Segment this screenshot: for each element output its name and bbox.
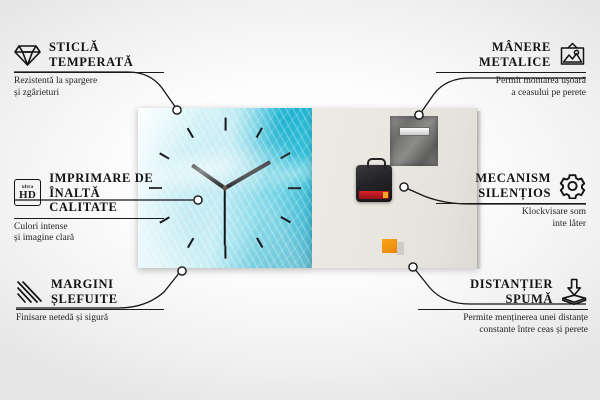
callout-header: MÂNERE METALICE: [436, 40, 586, 69]
ultra-hd-icon: ultra HD: [14, 179, 41, 206]
callout-description: Klockvisare som inte låter: [436, 207, 586, 230]
callout-description: Permit montarea ușoară a ceasului pe per…: [436, 76, 586, 99]
callout-tempered-glass: STICLĂ TEMPERATĂ Rezistentă la spargere …: [14, 40, 164, 99]
infographic-stage: STICLĂ TEMPERATĂ Rezistentă la spargere …: [0, 0, 600, 400]
battery-terminal: [383, 192, 388, 198]
diamond-icon: [14, 42, 41, 67]
callout-title: MÂNERE METALICE: [479, 40, 551, 69]
callout-title: STICLĂ TEMPERATĂ: [49, 40, 133, 69]
mechanism-battery: [359, 191, 389, 199]
product-assembly: [138, 108, 478, 268]
clock-tick: [280, 216, 290, 223]
callout-header: MECANISM SILENȚIOS: [436, 171, 586, 200]
callout-header: STICLĂ TEMPERATĂ: [14, 40, 164, 69]
metal-hanger-bracket: [399, 127, 430, 136]
callout-description: Permite menținerea unei distanțe constan…: [418, 313, 588, 336]
clock-dial: [138, 108, 312, 268]
clock-tick: [288, 187, 301, 189]
clock-tick: [187, 238, 194, 248]
framed-picture-icon: [559, 42, 586, 67]
foam-spacer: [382, 239, 397, 253]
callout-rule: [14, 218, 164, 219]
callout-description: Finisare netedă și sigură: [16, 313, 164, 325]
callout-title: MARGINI ȘLEFUITE: [51, 277, 118, 306]
callout-header: MARGINI ȘLEFUITE: [16, 277, 164, 306]
callout-foam-spacer: DISTANȚIER SPUMĂ Permite menținerea unei…: [418, 277, 588, 336]
clock-center-cap: [223, 186, 228, 191]
ultra-hd-icon-large-text: HD: [19, 190, 36, 201]
connector-dot-polished-edges: [178, 267, 186, 275]
callout-header: DISTANȚIER SPUMĂ: [418, 277, 588, 306]
callout-description: Rezistentă la spargere și zgârieturi: [14, 76, 164, 99]
callout-title: MECANISM SILENȚIOS: [475, 171, 551, 200]
gear-icon: [559, 173, 586, 199]
clock-tick: [187, 127, 194, 137]
metal-hanger-plate: [390, 116, 438, 166]
callout-description: Culori intense și imagine clară: [14, 222, 164, 245]
mechanism-hook: [367, 158, 386, 169]
clock-minute-hand: [224, 160, 271, 189]
spacer-arrow-icon: [561, 278, 588, 305]
callout-rule: [14, 72, 164, 73]
callout-rule: [16, 309, 164, 310]
clock-tick: [280, 152, 290, 159]
clock-tick: [224, 246, 226, 259]
callout-header: ultra HD IMPRIMARE DE ÎNALTĂ CALITATE: [14, 171, 164, 215]
callout-silent-mechanism: MECANISM SILENȚIOS Klockvisare som inte …: [436, 171, 586, 230]
callout-metal-handles: MÂNERE METALICE Permit montarea ușoară a…: [436, 40, 586, 99]
callout-rule: [436, 203, 586, 204]
callout-polished-edges: MARGINI ȘLEFUITE Finisare netedă și sigu…: [16, 277, 164, 325]
clock-tick: [256, 238, 263, 248]
clock-tick: [224, 118, 226, 131]
clock-mechanism: [356, 165, 392, 202]
diagonal-lines-icon: [16, 280, 43, 304]
foam-spacer-shadow: [397, 242, 404, 255]
clock-hour-hand: [191, 163, 226, 189]
callout-title: DISTANȚIER SPUMĂ: [470, 277, 553, 306]
callout-rule: [436, 72, 586, 73]
clock-tick: [256, 127, 263, 137]
callout-print-quality: ultra HD IMPRIMARE DE ÎNALTĂ CALITATE Cu…: [14, 171, 164, 245]
clock-tick: [160, 152, 170, 159]
clock-front-face: [138, 108, 312, 268]
clock-second-hand: [224, 188, 226, 246]
callout-rule: [418, 309, 588, 310]
callout-title: IMPRIMARE DE ÎNALTĂ CALITATE: [49, 171, 164, 215]
